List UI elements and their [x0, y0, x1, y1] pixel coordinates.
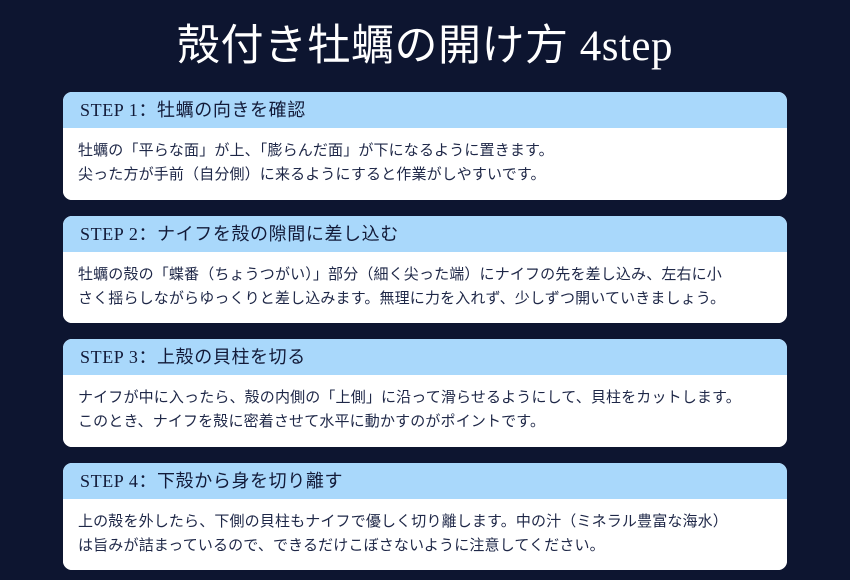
step-header-label-4: STEP 4：下殻から身を切り離す — [80, 472, 343, 490]
step-header-2: STEP 2：ナイフを殻の隙間に差し込む — [63, 216, 787, 252]
step-body-line: ナイフが中に入ったら、殻の内側の「上側」に沿って滑らせるようにして、貝柱をカット… — [78, 386, 772, 410]
step-body-line: 尖った方が手前（自分側）に来るようにすると作業がしやすいです。 — [78, 163, 772, 187]
step-card-list: STEP 1：牡蠣の向きを確認 牡蠣の「平らな面」が上、「膨らんだ面」が下になる… — [63, 92, 787, 570]
step-header-4: STEP 4：下殻から身を切り離す — [63, 463, 787, 499]
step-card-2: STEP 2：ナイフを殻の隙間に差し込む 牡蠣の殻の「蝶番（ちょうつがい）」部分… — [63, 216, 787, 324]
step-body-line: は旨みが詰まっているので、できるだけこぼさないように注意してください。 — [78, 534, 772, 558]
step-body-line: このとき、ナイフを殻に密着させて水平に動かすのがポイントです。 — [78, 410, 772, 434]
step-card-4: STEP 4：下殻から身を切り離す 上の殻を外したら、下側の貝柱もナイフで優しく… — [63, 463, 787, 571]
step-body-3: ナイフが中に入ったら、殻の内側の「上側」に沿って滑らせるようにして、貝柱をカット… — [63, 375, 787, 447]
title-section: 殻付き牡蠣の開け方 4step — [0, 0, 850, 92]
step-body-4: 上の殻を外したら、下側の貝柱もナイフで優しく切り離します。中の汁（ミネラル豊富な… — [63, 499, 787, 571]
step-body-line: 上の殻を外したら、下側の貝柱もナイフで優しく切り離します。中の汁（ミネラル豊富な… — [78, 510, 772, 534]
infographic-root: 殻付き牡蠣の開け方 4step STEP 1：牡蠣の向きを確認 牡蠣の「平らな面… — [0, 0, 850, 580]
step-body-line: 牡蠣の「平らな面」が上、「膨らんだ面」が下になるように置きます。 — [78, 139, 772, 163]
step-body-line: 牡蠣の殻の「蝶番（ちょうつがい）」部分（細く尖った端）にナイフの先を差し込み、左… — [78, 263, 772, 287]
step-header-1: STEP 1：牡蠣の向きを確認 — [63, 92, 787, 128]
step-body-line: さく揺らしながらゆっくりと差し込みます。無理に力を入れず、少しずつ開いていきまし… — [78, 287, 772, 311]
step-header-label-2: STEP 2：ナイフを殻の隙間に差し込む — [80, 225, 399, 243]
step-header-label-3: STEP 3：上殻の貝柱を切る — [80, 348, 306, 366]
step-header-3: STEP 3：上殻の貝柱を切る — [63, 339, 787, 375]
step-body-2: 牡蠣の殻の「蝶番（ちょうつがい）」部分（細く尖った端）にナイフの先を差し込み、左… — [63, 252, 787, 324]
page-title: 殻付き牡蠣の開け方 4step — [177, 25, 673, 68]
step-card-1: STEP 1：牡蠣の向きを確認 牡蠣の「平らな面」が上、「膨らんだ面」が下になる… — [63, 92, 787, 200]
step-header-label-1: STEP 1：牡蠣の向きを確認 — [80, 101, 306, 119]
step-card-3: STEP 3：上殻の貝柱を切る ナイフが中に入ったら、殻の内側の「上側」に沿って… — [63, 339, 787, 447]
step-body-1: 牡蠣の「平らな面」が上、「膨らんだ面」が下になるように置きます。 尖った方が手前… — [63, 128, 787, 200]
